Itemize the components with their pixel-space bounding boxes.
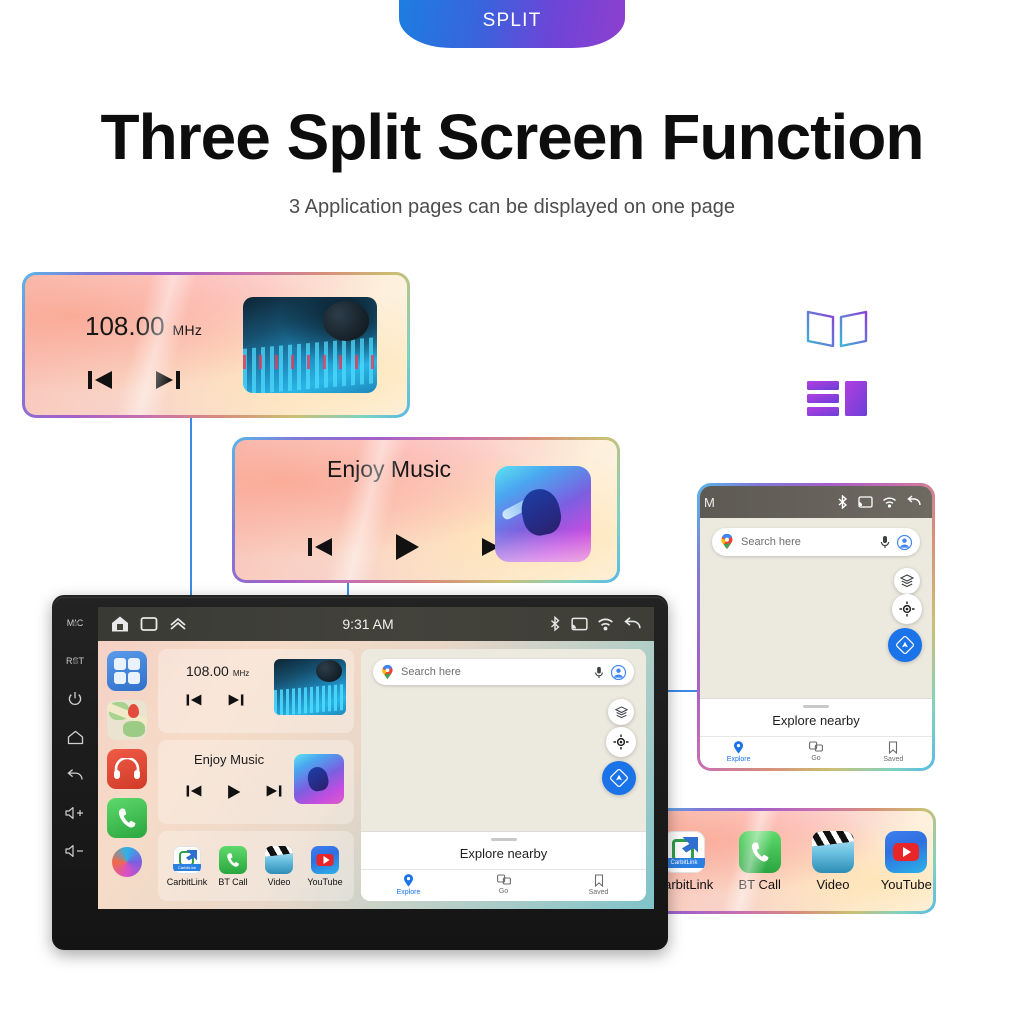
device-dock [98, 641, 156, 909]
assistant-ring-icon[interactable] [112, 847, 142, 877]
album-art [495, 466, 591, 562]
carbitlink-badge: CarbitLink [173, 864, 201, 871]
maps-bottom-sheet[interactable]: Explore nearby [700, 698, 932, 736]
app-carbitlink[interactable]: CarbitLink CarbitLink [165, 846, 209, 887]
explore-nearby-label: Explore nearby [361, 846, 646, 869]
radio-callout-card: 108.00MHz [22, 272, 410, 418]
account-icon[interactable] [611, 665, 626, 680]
google-maps-pin-icon [381, 665, 394, 680]
maps-tab-label: Go [499, 888, 508, 895]
power-icon [67, 691, 83, 707]
device-screen: 9:31 AM [98, 607, 654, 909]
bluetooth-icon [548, 616, 562, 632]
app-bt-call[interactable]: BT Call [211, 846, 255, 887]
handset-glyph [746, 838, 773, 865]
mic-dot-icon [73, 621, 78, 626]
page-subtitle: 3 Application pages can be displayed on … [0, 196, 1024, 219]
bluetooth-icon [836, 495, 849, 509]
music-title: Enjoy Music [327, 456, 451, 483]
app-bt-call[interactable]: BT Call [733, 831, 786, 892]
app-label: Video [816, 877, 849, 892]
three-split-layout-icon [806, 380, 868, 418]
play-icon[interactable] [393, 532, 421, 562]
account-icon[interactable] [897, 535, 912, 550]
all-apps-icon[interactable] [107, 651, 147, 691]
play-icon[interactable] [226, 784, 242, 800]
app-youtube[interactable]: YouTube [880, 831, 933, 892]
split-banner: SPLIT [399, 0, 625, 48]
maps-tab-explore[interactable]: Explore [361, 874, 456, 896]
handset-glyph [223, 850, 242, 869]
carbitlink-icon: CarbitLink [663, 831, 705, 873]
commute-icon [809, 741, 823, 753]
page-root: SPLIT Three Split Screen Function 3 Appl… [0, 0, 1024, 1024]
skip-previous-icon[interactable] [186, 784, 202, 798]
skip-next-icon[interactable] [228, 693, 244, 707]
maps-card-statusbar: M [700, 486, 932, 518]
app-youtube[interactable]: YouTube [303, 846, 347, 887]
bookmark-icon [888, 741, 898, 754]
maps-search-input[interactable]: Search here [712, 528, 920, 556]
page-title: Three Split Screen Function [0, 100, 1024, 174]
app-label: YouTube [881, 877, 932, 892]
back-icon [66, 768, 84, 783]
microphone-icon[interactable] [880, 535, 890, 549]
phone-icon[interactable] [107, 798, 147, 838]
device-bottom-chin [52, 920, 668, 950]
navigate-button[interactable] [602, 761, 636, 795]
pane-apps: CarbitLink CarbitLink [158, 831, 354, 901]
home-icon [67, 730, 84, 745]
app-label: BT Call [218, 877, 247, 887]
maps-search-placeholder: Search here [741, 536, 873, 548]
my-location-icon [613, 734, 629, 750]
carbitlink-badge: CarbitLink [663, 858, 705, 868]
navigate-icon [896, 636, 914, 654]
split-banner-label: SPLIT [483, 10, 542, 48]
status-bar-clock: 9:31 AM [342, 616, 393, 632]
recents-icon[interactable] [139, 615, 159, 633]
app-label: BT Call [738, 877, 780, 892]
maps-tab-label: Explore [727, 756, 751, 763]
chevron-up-icon[interactable] [168, 615, 188, 633]
maps-tab-label: Saved [883, 756, 903, 763]
apps-row: CarbitLink CarbitLink BT Call [655, 811, 933, 911]
device-button-mic[interactable]: MIC [52, 605, 98, 641]
maps-callout-card: M [697, 483, 935, 771]
map-layers-icon [900, 574, 914, 588]
navigate-icon [610, 769, 628, 787]
maps-tab-saved[interactable]: Saved [855, 741, 932, 763]
bookmark-icon [594, 874, 604, 887]
skip-previous-icon[interactable] [87, 369, 113, 391]
skip-previous-icon[interactable] [307, 535, 333, 559]
home-icon[interactable] [110, 615, 130, 633]
my-location-button[interactable] [606, 727, 636, 757]
location-pin-icon [733, 741, 744, 754]
pane-radio[interactable]: 108.00MHz [158, 649, 354, 733]
back-icon[interactable] [906, 495, 922, 509]
maps-search-placeholder: Search here [401, 666, 587, 678]
radio-frequency: 108.00MHz [85, 311, 202, 342]
my-location-button[interactable] [892, 594, 922, 624]
app-video[interactable]: Video [806, 831, 859, 892]
commute-icon [497, 874, 511, 886]
head-unit-device: MIC RST [52, 595, 668, 950]
map-layers-button[interactable] [894, 568, 920, 594]
headphones-glyph [114, 758, 140, 780]
device-button-power[interactable] [52, 681, 98, 717]
device-button-volume-down[interactable] [52, 833, 98, 869]
music-callout-card: Enjoy Music [232, 437, 620, 583]
music-controls [307, 532, 507, 562]
app-label: Video [268, 877, 291, 887]
handset-glyph [113, 804, 140, 831]
video-clapperboard-icon [812, 831, 854, 873]
music-icon[interactable] [107, 749, 147, 789]
youtube-icon [885, 831, 927, 873]
dual-pane-layout-icon [806, 308, 868, 350]
pane-maps-body: Search here [361, 649, 646, 831]
reset-dot-icon [73, 659, 78, 664]
microphone-icon[interactable] [594, 666, 604, 679]
maps-tab-go[interactable]: Go [456, 874, 551, 896]
pane-music-album-art [294, 754, 344, 804]
device-side-buttons: MIC RST [52, 605, 98, 905]
statusbar-clock: M [704, 495, 715, 510]
maps-tab-label: Explore [397, 889, 421, 896]
radio-thumbnail [243, 297, 377, 393]
phone-icon [739, 831, 781, 873]
split-panes: 108.00MHz [156, 641, 654, 909]
maps-icon[interactable] [107, 700, 147, 740]
skip-next-icon[interactable] [266, 784, 282, 798]
pane-music-title: Enjoy Music [194, 752, 264, 767]
radio-frequency-unit: MHz [173, 322, 203, 338]
pane-radio-frequency: 108.00MHz [186, 663, 249, 679]
maps-card-body: Search here [700, 518, 932, 698]
device-screen-body: 108.00MHz [98, 641, 654, 909]
youtube-icon [311, 846, 339, 874]
maps-search-input[interactable]: Search here [373, 659, 634, 685]
sheet-grab-handle[interactable] [491, 838, 517, 841]
layout-legend [806, 308, 868, 418]
my-location-icon [899, 601, 915, 617]
maps-tab-label: Saved [589, 889, 609, 896]
app-label: CarbitLink [167, 877, 208, 887]
volume-down-icon [65, 844, 85, 858]
maps-tab-saved[interactable]: Saved [551, 874, 646, 896]
google-maps-pin-icon [720, 534, 734, 550]
device-status-bar: 9:31 AM [98, 607, 654, 641]
maps-tab-bar: Explore Go Saved [700, 736, 932, 768]
map-layers-icon [615, 706, 628, 719]
maps-tab-label: Go [811, 755, 820, 762]
device-button-rst[interactable]: RST [52, 643, 98, 679]
pane-maps[interactable]: Search here [361, 649, 646, 901]
explore-nearby-label: Explore nearby [700, 713, 932, 736]
pane-music[interactable]: Enjoy Music [158, 740, 354, 824]
pane-music-controls [186, 784, 282, 800]
carbitlink-icon: CarbitLink [173, 846, 201, 874]
map-layers-button[interactable] [608, 699, 634, 725]
skip-previous-icon[interactable] [186, 693, 202, 707]
video-clapperboard-icon [265, 846, 293, 874]
wifi-icon [597, 616, 614, 632]
maps-tab-explore[interactable]: Explore [700, 741, 777, 763]
volume-up-icon [65, 806, 85, 820]
pane-radio-thumbnail [274, 659, 346, 715]
device-button-volume-up[interactable] [52, 795, 98, 831]
apps-callout-card: CarbitLink CarbitLink BT Call [652, 808, 936, 914]
wifi-icon [882, 495, 897, 509]
maps-bottom-sheet[interactable]: Explore nearby [361, 831, 646, 869]
app-video[interactable]: Video [257, 846, 301, 887]
device-button-home[interactable] [52, 719, 98, 755]
pane-radio-controls [186, 693, 244, 707]
sheet-grab-handle[interactable] [803, 705, 829, 708]
app-label: YouTube [307, 877, 342, 887]
navigate-button[interactable] [888, 628, 922, 662]
phone-icon [219, 846, 247, 874]
cast-icon [571, 616, 588, 632]
skip-next-icon[interactable] [155, 369, 181, 391]
maps-tab-bar: Explore Go [361, 869, 646, 901]
radio-controls [87, 369, 181, 391]
device-button-back[interactable] [52, 757, 98, 793]
left-pane-column: 108.00MHz [158, 649, 354, 901]
back-icon[interactable] [623, 616, 642, 632]
maps-tab-go[interactable]: Go [777, 741, 854, 763]
location-pin-icon [403, 874, 414, 887]
cast-icon [858, 495, 873, 509]
